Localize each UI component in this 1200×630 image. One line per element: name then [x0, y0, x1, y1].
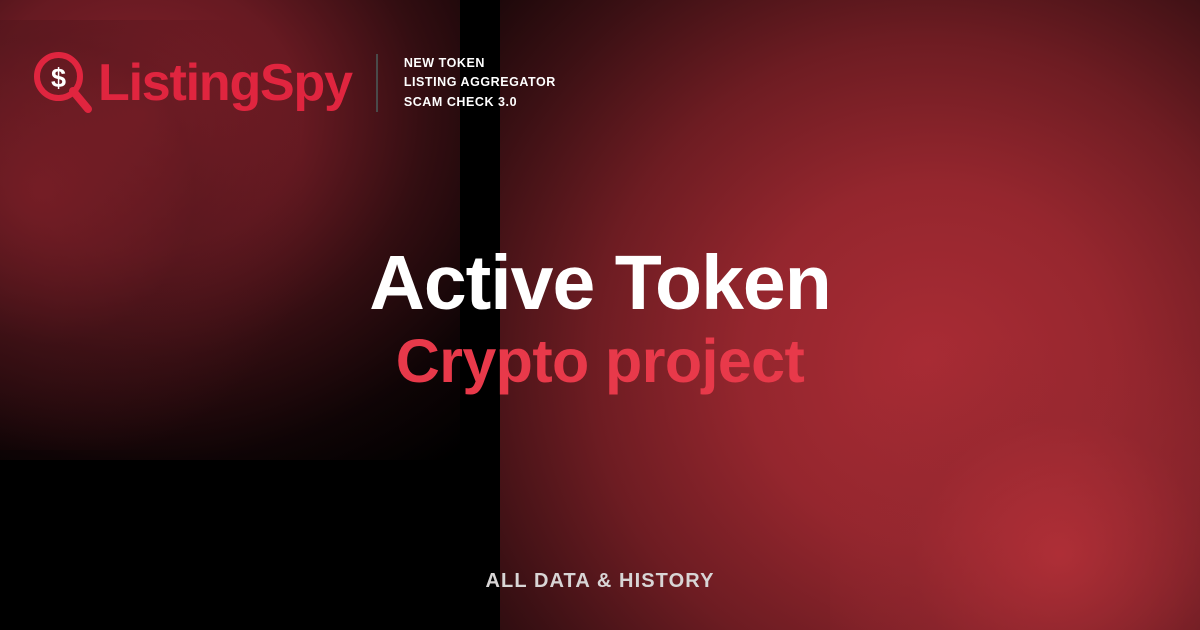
logo-wordmark: ListingSpy [98, 57, 352, 109]
header-divider [376, 54, 378, 112]
hero-section: Active Token Crypto project [0, 244, 1200, 393]
tagline-line-1: NEW TOKEN [404, 55, 556, 72]
tagline: NEW TOKEN LISTING AGGREGATOR SCAM CHECK … [404, 55, 556, 111]
logo-wordmark-spy: Spy [260, 54, 352, 112]
banner-canvas: $ ListingSpy NEW TOKEN LISTING AGGREGATO… [0, 0, 1200, 630]
header: $ ListingSpy NEW TOKEN LISTING AGGREGATO… [34, 52, 556, 114]
footer: ALL DATA & HISTORY [0, 570, 1200, 593]
magnifier-dollar-icon: $ [34, 52, 92, 114]
page-subtitle: Crypto project [0, 329, 1200, 393]
tagline-line-2: LISTING AGGREGATOR [404, 74, 556, 91]
footer-caption: ALL DATA & HISTORY [0, 570, 1200, 593]
tagline-line-3: SCAM CHECK 3.0 [404, 94, 556, 111]
logo-lockup[interactable]: $ ListingSpy [34, 52, 352, 114]
logo-wordmark-listing: Listing [98, 54, 260, 112]
page-title: Active Token [0, 244, 1200, 323]
svg-text:$: $ [51, 63, 66, 93]
